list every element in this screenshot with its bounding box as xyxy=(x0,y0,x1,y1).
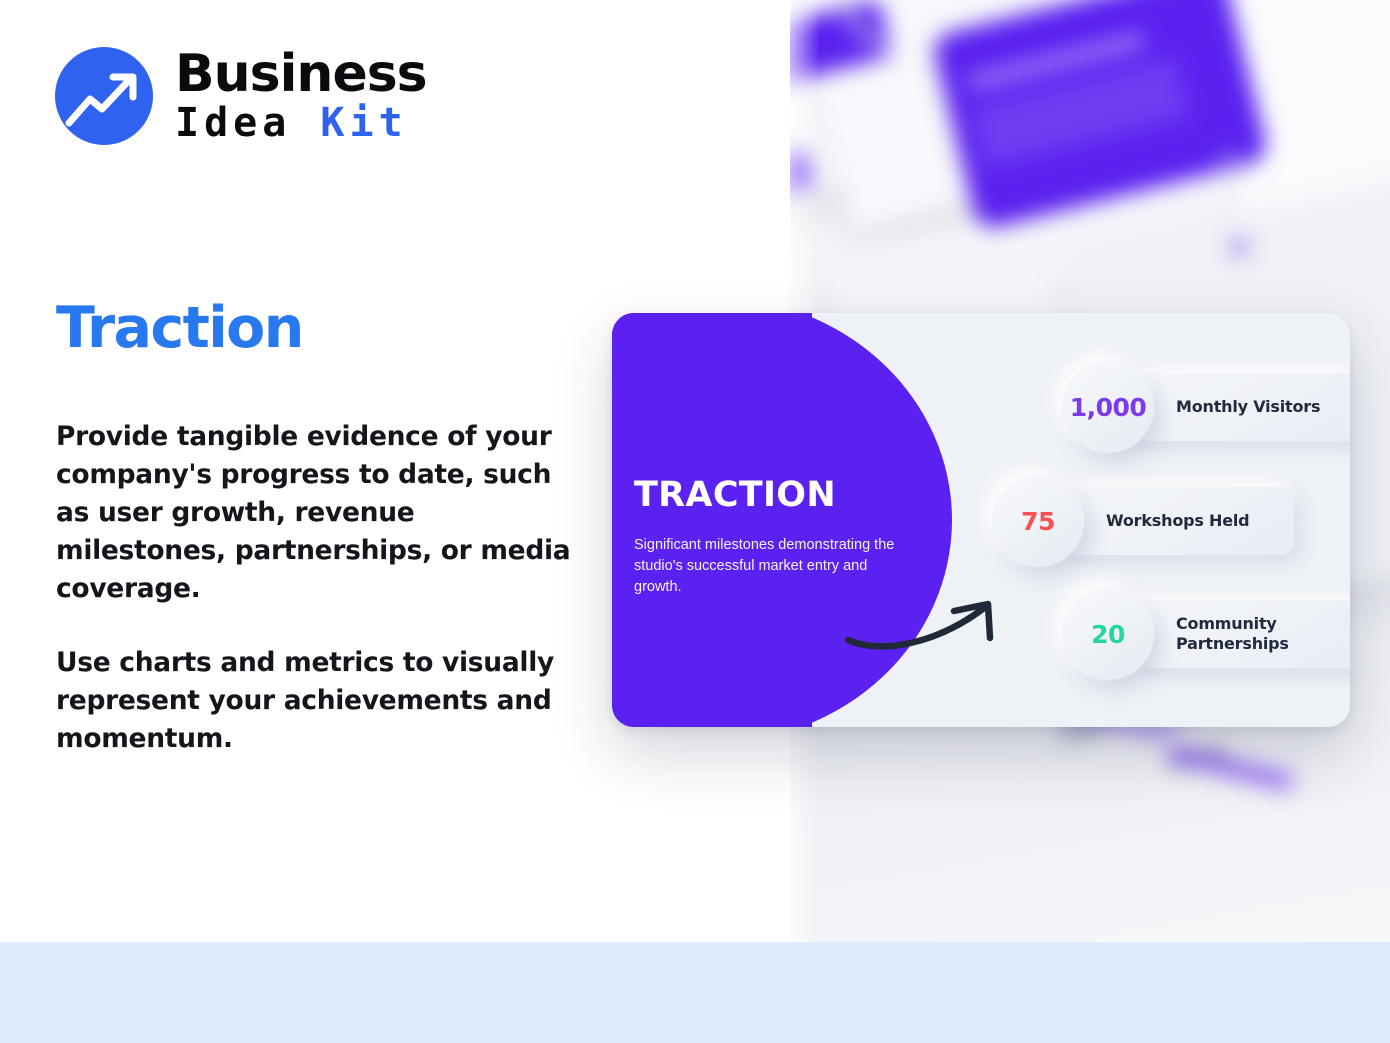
curved-up-right-arrow-icon xyxy=(842,593,1012,663)
metric-label-pill: Monthly Visitors xyxy=(1136,373,1350,441)
metric-value-circle: 1,000 xyxy=(1062,361,1154,453)
brand-logo: Business Idea Kit xyxy=(55,47,427,145)
metric-label: Community Partnerships xyxy=(1176,614,1326,654)
metric-label-pill: Workshops Held xyxy=(1066,487,1294,555)
background-dot-icon xyxy=(1218,152,1240,174)
paragraph-1: Provide tangible evidence of your compan… xyxy=(56,418,576,608)
metric-item[interactable]: 20 Community Partnerships xyxy=(1062,588,1350,680)
metric-value: 1,000 xyxy=(1070,393,1147,422)
bottom-accent-strip xyxy=(0,942,1390,1043)
brand-line-2: Idea Kit xyxy=(175,102,427,144)
metric-label: Monthly Visitors xyxy=(1176,397,1320,417)
metric-list: 1,000 Monthly Visitors 75 Workshops Held… xyxy=(612,313,1350,727)
card-subtitle: Significant milestones demonstrating the… xyxy=(634,535,896,598)
brand-line-2-left: Idea xyxy=(175,100,291,146)
metric-label: Workshops Held xyxy=(1106,511,1249,531)
background-dot-icon xyxy=(1230,238,1248,256)
metric-value: 20 xyxy=(1091,620,1125,649)
brand-line-2-accent: Kit xyxy=(320,100,407,146)
brand-line-1: Business xyxy=(175,48,427,101)
page-title: Traction xyxy=(56,297,303,360)
traction-slide-card: TRACTION Significant milestones demonstr… xyxy=(612,313,1350,727)
metric-item[interactable]: 1,000 Monthly Visitors xyxy=(1062,361,1350,453)
metric-value-circle: 75 xyxy=(992,475,1084,567)
body-copy: Provide tangible evidence of your compan… xyxy=(56,418,576,758)
metric-item[interactable]: 75 Workshops Held xyxy=(992,475,1294,567)
card-title: TRACTION xyxy=(634,475,836,515)
metric-label-pill: Community Partnerships xyxy=(1136,600,1350,668)
growth-chart-circle-icon xyxy=(55,47,153,145)
metric-value: 75 xyxy=(1021,507,1055,536)
brand-wordmark: Business Idea Kit xyxy=(175,48,427,143)
metric-value-circle: 20 xyxy=(1062,588,1154,680)
slide-canvas: Business Idea Kit Traction Provide tangi… xyxy=(0,0,1390,1043)
paragraph-2: Use charts and metrics to visually repre… xyxy=(56,644,576,758)
